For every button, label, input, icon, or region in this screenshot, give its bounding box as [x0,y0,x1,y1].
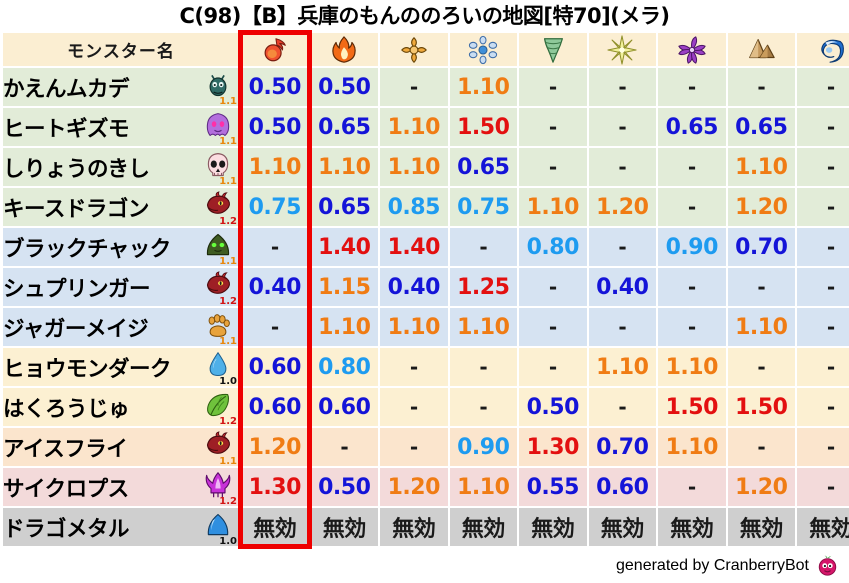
resistance-value-cell[interactable]: 0.65 [311,108,379,146]
resistance-value-cell[interactable]: - [658,68,726,106]
resistance-value-cell[interactable]: - [241,308,309,346]
resistance-value: - [688,155,696,179]
resistance-value: 無効 [462,517,505,542]
resistance-value-cell[interactable]: 0.75 [450,188,518,226]
resistance-value-cell[interactable]: - [797,228,849,266]
resistance-value: 0.65 [318,115,370,140]
resistance-value: 1.10 [457,475,509,500]
monster-name-label: ヒートギズモ [3,112,129,143]
resistance-value-cell[interactable]: - [241,228,309,266]
resistance-value-cell[interactable]: 無効 [241,508,309,546]
resistance-value-cell[interactable]: 無効 [519,508,587,546]
monster-name-label: ドラゴメタル [3,512,129,543]
skull-monster-icon [204,151,232,179]
dragon-monster-icon [204,271,232,299]
monster-icon-wrapper: 1.1 [201,430,235,464]
resistance-value-cell[interactable]: - [589,228,657,266]
monster-name-label: ヒョウモンダーク [3,352,171,383]
element-column-header-fireball-mera[interactable] [241,33,309,66]
monster-version-label: 1.1 [219,137,237,147]
resistance-value: - [549,355,557,379]
resistance-value-cell[interactable]: 無効 [450,508,518,546]
resistance-value: - [618,75,626,99]
resistance-value: 無効 [670,517,713,542]
monster-version-label: 1.0 [219,377,237,387]
resistance-value: 0.50 [249,75,301,100]
resistance-value: 1.10 [666,435,718,460]
resistance-value: 0.90 [666,235,718,260]
resistance-value-cell[interactable]: 0.75 [241,188,309,226]
resistance-matrix-table: モンスター名 かえんムカデ1.10.500.50-1.10-----ヒートギズモ… [1,31,849,548]
resistance-value-cell[interactable]: - [589,108,657,146]
flame-gira-icon [329,35,359,65]
monster-name-cell[interactable]: サイクロプス1.2 [3,468,239,506]
monster-name-cell[interactable]: シュプリンガー1.2 [3,268,239,306]
table-row: しりょうのきし1.11.101.101.100.65---1.10- [3,148,849,186]
resistance-value: 1.10 [735,155,787,180]
waterdrop-monster-icon [204,351,232,379]
resistance-value: - [827,275,835,299]
resistance-value: 0.40 [388,275,440,300]
resistance-value: - [827,355,835,379]
resistance-value-cell[interactable]: 0.40 [241,268,309,306]
resistance-value-cell[interactable]: 1.50 [658,388,726,426]
resistance-value-cell[interactable]: - [450,348,518,386]
monster-name-label: シュプリンガー [3,272,150,303]
monster-icon-wrapper: 1.0 [201,510,235,544]
resistance-value-cell[interactable]: 1.50 [450,108,518,146]
resistance-value-cell[interactable]: - [380,348,448,386]
resistance-value-cell[interactable]: - [519,268,587,306]
resistance-value: - [757,275,765,299]
resistance-value-cell[interactable]: 0.40 [589,268,657,306]
element-column-header-pinwheel-doruma[interactable] [658,33,726,66]
resistance-value-cell[interactable]: 1.10 [380,308,448,346]
wave-water-icon [816,35,846,65]
resistance-value-cell[interactable]: 1.40 [380,228,448,266]
resistance-value-cell[interactable]: - [519,308,587,346]
resistance-value: 1.20 [735,475,787,500]
pinwheel-doruma-icon [677,35,707,65]
resistance-value: 無効 [323,517,366,542]
table-row: ヒートギズモ1.10.500.651.101.50--0.650.65- [3,108,849,146]
resistance-value-cell[interactable]: - [797,348,849,386]
resistance-value-cell[interactable]: 0.65 [728,108,796,146]
resistance-value: 1.10 [388,315,440,340]
resistance-value-cell[interactable]: 無効 [589,508,657,546]
element-column-header-mountain-jibaria[interactable] [728,33,796,66]
resistance-value-cell[interactable]: - [589,308,657,346]
resistance-value: - [827,75,835,99]
monster-name-label: サイクロプス [3,472,129,503]
resistance-value-cell[interactable]: - [797,148,849,186]
resistance-value-cell[interactable]: 1.40 [311,228,379,266]
resistance-value: 1.50 [735,395,787,420]
monster-icon-wrapper: 1.0 [201,350,235,384]
resistance-value-cell[interactable]: - [728,428,796,466]
resistance-value: 1.10 [527,195,579,220]
resistance-value: 1.10 [457,315,509,340]
resistance-value: - [618,235,626,259]
fireball-mera-icon [260,35,290,65]
table-row: はくろうじゅ1.20.600.60--0.50-1.501.50- [3,388,849,426]
resistance-value: 1.10 [596,355,648,380]
resistance-value-cell[interactable]: - [658,268,726,306]
resistance-value: 0.80 [318,355,370,380]
table-row: サイクロプス1.21.300.501.201.100.550.60-1.20- [3,468,849,506]
resistance-value: 1.50 [457,115,509,140]
cross-io-icon [399,35,429,65]
monster-icon-wrapper: 1.1 [201,150,235,184]
resistance-value-cell[interactable]: 0.55 [519,468,587,506]
resistance-value-cell[interactable]: 0.50 [311,468,379,506]
monster-version-label: 1.1 [219,457,237,467]
table-row: ドラゴメタル1.0無効無効無効無効無効無効無効無効無効 [3,508,849,546]
snowflake-hyado-icon [468,35,498,65]
element-column-header-flame-gira[interactable] [311,33,379,66]
resistance-value: - [757,355,765,379]
resistance-value: - [479,355,487,379]
resistance-value: 1.10 [318,155,370,180]
resistance-value-cell[interactable]: - [797,428,849,466]
resistance-value-cell[interactable]: - [380,428,448,466]
resistance-value: - [688,315,696,339]
monster-name-cell[interactable]: ブラックチャック1.1 [3,228,239,266]
resistance-value: 1.30 [249,475,301,500]
resistance-value-cell[interactable]: - [797,268,849,306]
resistance-value: 1.40 [318,235,370,260]
resistance-value: - [688,195,696,219]
resistance-value: 無効 [253,517,296,542]
slime-dark-monster-icon [204,231,232,259]
resistance-value-cell[interactable]: 1.10 [658,428,726,466]
resistance-table-container: モンスター名 かえんムカデ1.10.500.50-1.10-----ヒートギズモ… [0,31,849,548]
resistance-value: 1.20 [735,195,787,220]
resistance-value: 0.60 [318,395,370,420]
resistance-value: - [410,395,418,419]
resistance-value: 1.30 [527,435,579,460]
resistance-value: 無効 [531,517,574,542]
resistance-value: 0.60 [249,395,301,420]
resistance-value-cell[interactable]: 無効 [728,508,796,546]
resistance-value: - [618,155,626,179]
resistance-value-cell[interactable]: 無効 [797,508,849,546]
monster-name-cell[interactable]: ヒートギズモ1.1 [3,108,239,146]
monster-name-cell[interactable]: はくろうじゅ1.2 [3,388,239,426]
resistance-value-cell[interactable]: 0.65 [450,148,518,186]
resistance-value-cell[interactable]: 1.30 [519,428,587,466]
resistance-value-cell[interactable]: - [658,188,726,226]
table-row: ヒョウモンダーク1.00.600.80---1.101.10-- [3,348,849,386]
resistance-value-cell[interactable]: 1.10 [380,148,448,186]
monster-name-cell[interactable]: ヒョウモンダーク1.0 [3,348,239,386]
resistance-value-cell[interactable]: 1.10 [450,68,518,106]
resistance-value: 0.40 [249,275,301,300]
resistance-value: 0.65 [318,195,370,220]
resistance-value-cell[interactable]: 0.50 [519,388,587,426]
resistance-value: 0.75 [249,195,301,220]
resistance-value: 0.65 [735,115,787,140]
resistance-value-cell[interactable]: 1.10 [519,188,587,226]
monster-icon-wrapper: 1.2 [201,470,235,504]
bug-monster-icon [204,71,232,99]
monster-name-cell[interactable]: しりょうのきし1.1 [3,148,239,186]
monster-version-label: 1.2 [219,217,237,227]
resistance-value-cell[interactable]: 1.25 [450,268,518,306]
monster-name-cell[interactable]: かえんムカデ1.1 [3,68,239,106]
resistance-value-cell[interactable]: 1.30 [241,468,309,506]
resistance-value: 1.10 [666,355,718,380]
resistance-value: - [757,75,765,99]
leaf-monster-icon [204,391,232,419]
dragon-monster-icon [204,191,232,219]
resistance-value-cell[interactable]: - [658,308,726,346]
resistance-value: 0.60 [596,475,648,500]
monster-name-column-header: モンスター名 [3,33,239,66]
monster-version-label: 1.1 [219,177,237,187]
starburst-dein-icon [607,35,637,65]
resistance-value-cell[interactable]: - [728,348,796,386]
resistance-value-cell[interactable]: 0.80 [311,348,379,386]
resistance-value-cell[interactable]: 1.10 [241,148,309,186]
resistance-value: 1.40 [388,235,440,260]
resistance-value-cell[interactable]: - [519,148,587,186]
resistance-value-cell[interactable]: - [797,468,849,506]
resistance-value-cell[interactable]: 0.50 [241,108,309,146]
resistance-value: 無効 [809,517,849,542]
resistance-value-cell[interactable]: - [797,388,849,426]
resistance-value: 1.50 [666,395,718,420]
resistance-value-cell[interactable]: 0.70 [589,428,657,466]
table-body: かえんムカデ1.10.500.50-1.10-----ヒートギズモ1.10.50… [3,68,849,546]
monster-icon-wrapper: 1.2 [201,390,235,424]
resistance-value-cell[interactable]: 無効 [380,508,448,546]
resistance-value-cell[interactable]: - [519,108,587,146]
element-column-header-wave-water[interactable] [797,33,849,66]
table-row: アイスフライ1.11.20--0.901.300.701.10-- [3,428,849,466]
resistance-value: 0.90 [457,435,509,460]
resistance-value-cell[interactable]: 1.50 [728,388,796,426]
footer-credit-text: generated by CranberryBot [616,557,809,575]
resistance-value-cell[interactable]: 1.10 [658,348,726,386]
resistance-value: - [827,475,835,499]
paw-monster-icon [204,311,232,339]
resistance-value-cell[interactable]: - [311,428,379,466]
resistance-value-cell[interactable]: 無効 [311,508,379,546]
slime-blue-monster-icon [204,511,232,539]
monster-name-label: ジャガーメイジ [3,312,148,343]
resistance-value: 1.10 [388,115,440,140]
table-row: シュプリンガー1.20.401.150.401.25-0.40--- [3,268,849,306]
resistance-value: 1.10 [388,155,440,180]
resistance-value: - [827,195,835,219]
resistance-value-cell[interactable]: 0.60 [241,348,309,386]
mountain-jibaria-icon [746,35,776,65]
resistance-value-cell[interactable]: 1.10 [380,108,448,146]
resistance-value: - [271,315,279,339]
resistance-value-cell[interactable]: - [380,388,448,426]
monster-version-label: 1.2 [219,297,237,307]
resistance-value-cell[interactable]: 0.50 [241,68,309,106]
resistance-value-cell[interactable]: 1.20 [589,188,657,226]
resistance-value-cell[interactable]: - [589,68,657,106]
resistance-value: 0.75 [457,195,509,220]
resistance-value: - [618,115,626,139]
resistance-value: - [688,75,696,99]
element-column-header-cross-io[interactable] [380,33,448,66]
resistance-value-cell[interactable]: 1.20 [241,428,309,466]
resistance-value: 1.20 [596,195,648,220]
resistance-value-cell[interactable]: 1.10 [450,308,518,346]
resistance-value: 0.50 [318,475,370,500]
resistance-value: 1.10 [735,315,787,340]
resistance-value: 0.85 [388,195,440,220]
resistance-value: 0.60 [249,355,301,380]
resistance-value-cell[interactable]: 1.20 [728,468,796,506]
monster-version-label: 1.1 [219,257,237,267]
resistance-value-cell[interactable]: 0.65 [658,108,726,146]
resistance-value-cell[interactable]: 1.10 [728,148,796,186]
resistance-value: - [549,315,557,339]
resistance-value-cell[interactable]: 1.20 [728,188,796,226]
resistance-value-cell[interactable]: 0.65 [311,188,379,226]
resistance-value: - [757,435,765,459]
resistance-value: - [410,75,418,99]
resistance-value-cell[interactable]: - [450,228,518,266]
monster-icon-wrapper: 1.1 [201,230,235,264]
resistance-value-cell[interactable]: - [797,108,849,146]
resistance-value-cell[interactable]: 0.50 [311,68,379,106]
resistance-value-cell[interactable]: 1.10 [450,468,518,506]
resistance-value-cell[interactable]: 1.20 [380,468,448,506]
monster-icon-wrapper: 1.2 [201,190,235,224]
resistance-value-cell[interactable]: - [728,268,796,306]
resistance-value: 1.10 [249,155,301,180]
monster-name-cell[interactable]: ドラゴメタル1.0 [3,508,239,546]
monster-name-cell[interactable]: アイスフライ1.1 [3,428,239,466]
ghost-monster-icon [204,111,232,139]
resistance-value: - [410,355,418,379]
resistance-value: - [688,275,696,299]
resistance-value: - [340,435,348,459]
resistance-value: 0.65 [666,115,718,140]
page-title: C(98)【B】兵庫のもんののろいの地図[特70](メラ) [0,0,849,31]
table-row: かえんムカデ1.10.500.50-1.10----- [3,68,849,106]
monster-name-label: キースドラゴン [3,192,149,223]
element-column-header-tornado-bagi[interactable] [519,33,587,66]
resistance-value-cell[interactable]: 1.15 [311,268,379,306]
resistance-value-cell[interactable]: 1.10 [728,308,796,346]
monster-name-label: ブラックチャック [3,232,171,263]
resistance-value-cell[interactable]: 無効 [658,508,726,546]
resistance-value: - [688,475,696,499]
element-column-header-starburst-dein[interactable] [589,33,657,66]
resistance-value: 0.50 [249,115,301,140]
resistance-value-cell[interactable]: 1.10 [589,348,657,386]
monster-name-label: かえんムカデ [3,72,129,103]
resistance-value-cell[interactable]: - [450,388,518,426]
resistance-value-cell[interactable]: 1.10 [311,148,379,186]
resistance-value-cell[interactable]: 0.40 [380,268,448,306]
resistance-value-cell[interactable]: - [658,148,726,186]
resistance-value-cell[interactable]: 0.90 [450,428,518,466]
monster-icon-wrapper: 1.1 [201,310,235,344]
cranberry-bot-icon [816,554,839,577]
resistance-value-cell[interactable]: - [797,68,849,106]
resistance-value-cell[interactable]: - [519,68,587,106]
monster-version-label: 1.0 [219,537,237,547]
monster-icon-wrapper: 1.1 [201,70,235,104]
resistance-value: - [549,75,557,99]
monster-icon-wrapper: 1.1 [201,110,235,144]
monster-name-cell[interactable]: ジャガーメイジ1.1 [3,308,239,346]
resistance-value-cell[interactable]: - [589,148,657,186]
resistance-value: - [549,275,557,299]
resistance-value: 1.20 [388,475,440,500]
resistance-value: 0.40 [596,275,648,300]
resistance-value: - [827,395,835,419]
trident-monster-icon [204,471,232,499]
resistance-value-cell[interactable]: 0.85 [380,188,448,226]
resistance-value: - [827,435,835,459]
resistance-value-cell[interactable]: 0.60 [589,468,657,506]
dragon-monster-icon [204,431,232,459]
resistance-value-cell[interactable]: 0.60 [241,388,309,426]
resistance-value: - [827,115,835,139]
resistance-value: - [618,315,626,339]
resistance-value: - [271,235,279,259]
resistance-value-cell[interactable]: - [728,68,796,106]
resistance-value-cell[interactable]: 0.90 [658,228,726,266]
resistance-value: 1.10 [318,315,370,340]
resistance-value-cell[interactable]: 1.10 [311,308,379,346]
resistance-value: 0.50 [318,75,370,100]
resistance-value-cell[interactable]: 0.60 [311,388,379,426]
resistance-value: - [827,155,835,179]
resistance-value-cell[interactable]: 0.80 [519,228,587,266]
resistance-value-cell[interactable]: - [589,388,657,426]
resistance-value: - [479,395,487,419]
resistance-value-cell[interactable]: - [380,68,448,106]
resistance-value-cell[interactable]: - [797,308,849,346]
resistance-value-cell[interactable]: - [519,348,587,386]
resistance-value: 0.55 [527,475,579,500]
resistance-value: 1.25 [457,275,509,300]
element-column-header-snowflake-hyado[interactable] [450,33,518,66]
footer: generated by CranberryBot [616,554,839,577]
monster-version-label: 1.2 [219,417,237,427]
resistance-value-cell[interactable]: 0.70 [728,228,796,266]
resistance-value: 0.50 [527,395,579,420]
resistance-value: - [549,115,557,139]
monster-name-label: はくろうじゅ [3,392,129,423]
resistance-value: 1.15 [318,275,370,300]
resistance-value: - [827,315,835,339]
resistance-value: 0.70 [596,435,648,460]
monster-name-label: アイスフライ [3,432,127,463]
resistance-value: 1.10 [457,75,509,100]
resistance-value-cell[interactable]: - [797,188,849,226]
resistance-value: 0.65 [457,155,509,180]
resistance-value: 無効 [601,517,644,542]
table-header-row: モンスター名 [3,33,849,66]
table-row: ブラックチャック1.1-1.401.40-0.80-0.900.70- [3,228,849,266]
monster-name-cell[interactable]: キースドラゴン1.2 [3,188,239,226]
monster-icon-wrapper: 1.2 [201,270,235,304]
resistance-value: - [549,155,557,179]
resistance-value: - [479,235,487,259]
resistance-value-cell[interactable]: - [658,468,726,506]
